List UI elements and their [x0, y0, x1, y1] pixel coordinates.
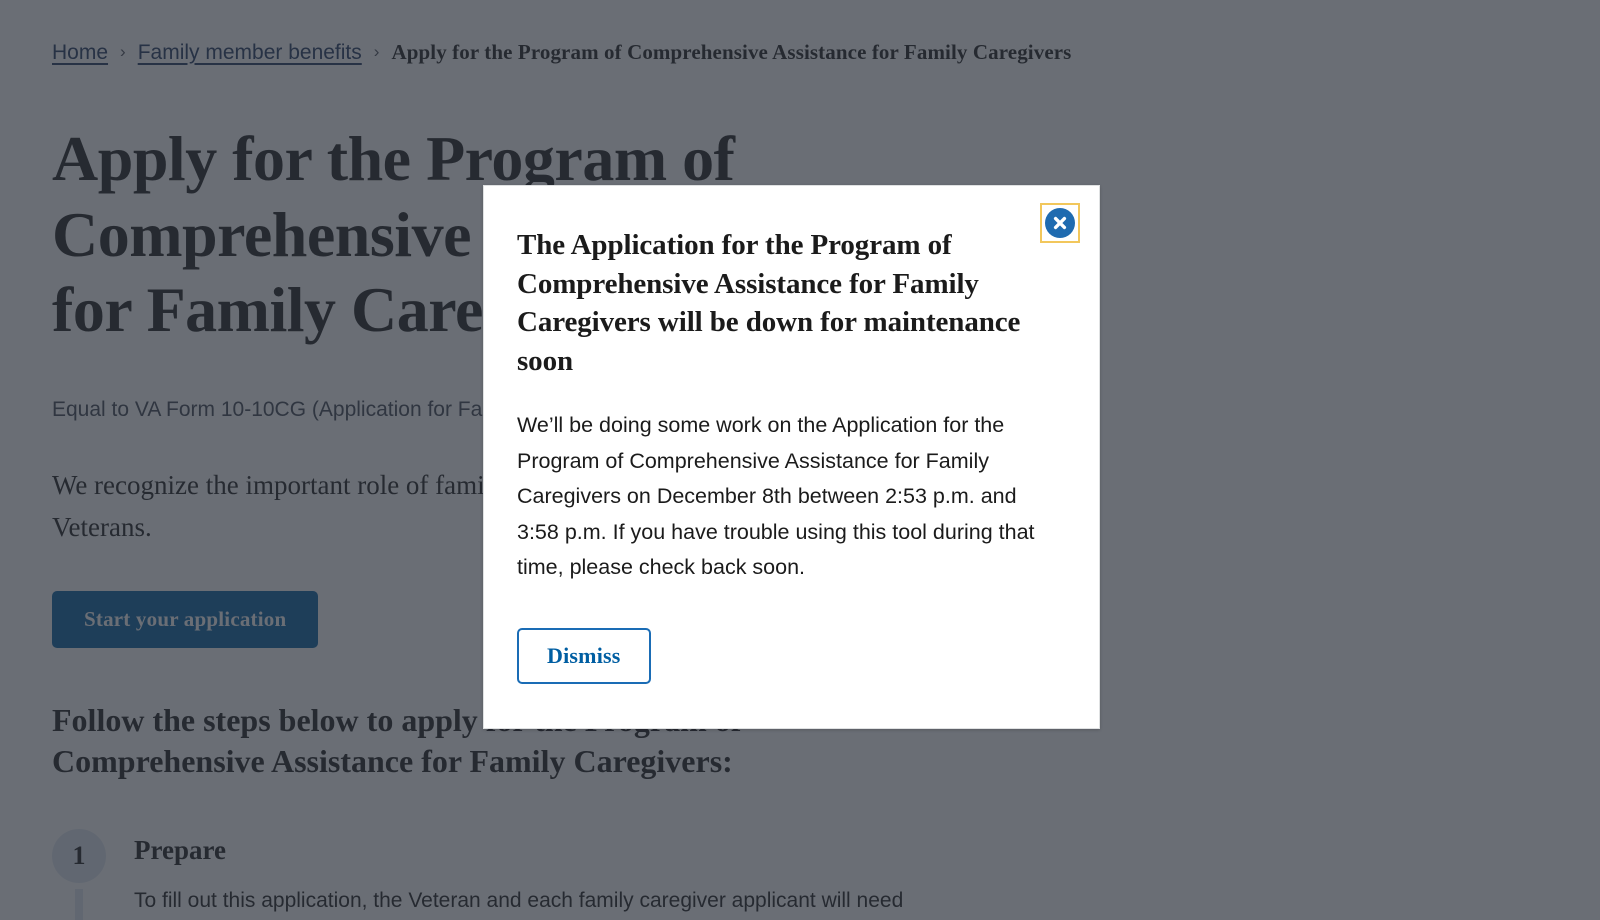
dismiss-button[interactable]: Dismiss: [517, 628, 651, 684]
close-button-focus-ring: [1040, 203, 1080, 243]
maintenance-notification-modal: The Application for the Program of Compr…: [483, 185, 1100, 729]
modal-body-text: We’ll be doing some work on the Applicat…: [517, 408, 1056, 585]
modal-title: The Application for the Program of Compr…: [517, 226, 1056, 380]
close-icon[interactable]: [1045, 208, 1075, 238]
modal-actions: Dismiss: [517, 628, 1056, 684]
